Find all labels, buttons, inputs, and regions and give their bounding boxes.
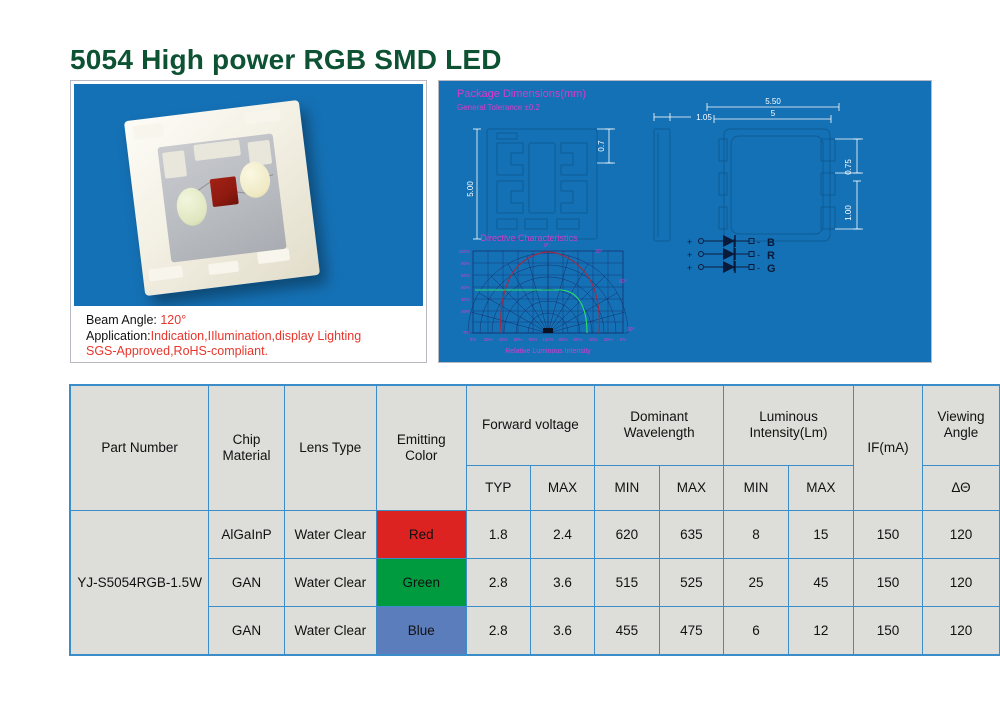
diode-minus-3: - — [757, 263, 760, 273]
chart-ytick-2: 60% — [461, 273, 470, 278]
cell-wavelength-min: 515 — [595, 559, 659, 607]
chart-xtick-6: 80% — [558, 337, 567, 342]
page-title: 5054 High power RGB SMD LED — [70, 44, 502, 76]
dim-width-5: 5 — [771, 109, 776, 118]
chart-angle-1: 30° — [595, 249, 603, 255]
cell-wavelength-min: 620 — [595, 511, 659, 559]
cell-emitting-color: Green — [376, 559, 466, 607]
chart-title: Directive Characteristics — [480, 233, 578, 243]
led-product-photo — [74, 84, 423, 306]
header-viewing-angle-line1: Viewing — [937, 409, 984, 424]
application-value: Indication,IIlumination,display Lighting — [151, 329, 362, 343]
diode-label-r: R — [767, 250, 775, 262]
table-header: Part Number Chip Material Lens Type Emit… — [71, 386, 1000, 511]
cavity-notch — [162, 150, 187, 178]
chart-xtick-0: 0% — [470, 337, 477, 342]
chart-xtick-7: 60% — [573, 337, 582, 342]
package-dimensions-drawing: Package Dimensions(mm) General Tolerance… — [439, 81, 931, 362]
diode-plus-3: + — [687, 263, 692, 273]
cell-vf-max: 2.4 — [530, 511, 594, 559]
chart-ytick-6: 0% — [463, 330, 470, 335]
table-header-row-1: Part Number Chip Material Lens Type Emit… — [71, 386, 1000, 466]
cell-lens-type: Water Clear — [284, 511, 376, 559]
package-notch — [244, 108, 281, 124]
chart-ytick-4: 40% — [461, 297, 470, 302]
application-label: Application: — [86, 329, 151, 343]
cell-if-ma: 150 — [853, 511, 922, 559]
chart-ytick-3: 50% — [461, 285, 470, 290]
photo-caption: Beam Angle: 120° Application:Indication,… — [74, 309, 423, 359]
header-luminous-intensity: Luminous Intensity(Lm) — [724, 386, 854, 466]
diode-plus-2: + — [687, 250, 692, 260]
header-luminous-intensity-line2: Intensity(Lm) — [750, 425, 828, 440]
cell-vf-max: 3.6 — [530, 559, 594, 607]
led-chip-green — [175, 186, 209, 227]
header-emitting-color-line2: Color — [405, 448, 437, 463]
cell-wavelength-min: 455 — [595, 607, 659, 655]
dim-width-5-50: 5.50 — [765, 97, 781, 106]
chart-xtick-2: 40% — [498, 337, 507, 342]
header-emitting-color-line1: Emitting — [397, 432, 446, 447]
cell-vf-max: 3.6 — [530, 607, 594, 655]
drawing-subtitle: General Tolerance ±0.2 — [457, 103, 541, 112]
diode-minus-2: - — [757, 250, 760, 260]
package-notch — [133, 123, 164, 141]
specification-table: Part Number Chip Material Lens Type Emit… — [70, 385, 1000, 655]
cell-wavelength-max: 475 — [659, 607, 724, 655]
diode-label-b: B — [767, 237, 775, 249]
chart-angle-0: 0° — [544, 243, 549, 249]
cell-luminous-min: 25 — [724, 559, 789, 607]
chart-angle-3: 90° — [627, 327, 635, 333]
led-package-body — [124, 100, 320, 296]
cell-emitting-color: Red — [376, 511, 466, 559]
cell-chip-material: GAN — [209, 607, 284, 655]
chart-xtick-9: 20% — [603, 337, 612, 342]
cell-viewing-angle: 120 — [923, 559, 1000, 607]
table-row: GANWater ClearGreen2.83.6515525254515012… — [71, 559, 1000, 607]
header-dominant-wavelength: Dominant Wavelength — [595, 386, 724, 466]
directive-characteristics-chart: Directive Characteristics — [458, 233, 634, 355]
cell-lens-type: Water Clear — [284, 559, 376, 607]
cell-wavelength-max: 635 — [659, 511, 724, 559]
chart-ytick-1: 80% — [461, 261, 470, 266]
header-luminous-intensity-line1: Luminous — [759, 409, 818, 424]
chart-xaxis-label: Relative Luminous Intensity — [505, 348, 591, 355]
chart-ytick-0: 100% — [458, 249, 470, 254]
package-drawing-panel: Package Dimensions(mm) General Tolerance… — [438, 80, 932, 363]
compliance-line: SGS-Approved,RoHS-compliant. — [86, 344, 423, 360]
cell-emitting-color: Blue — [376, 607, 466, 655]
cell-luminous-min: 8 — [724, 511, 789, 559]
chart-angle-2: 60° — [619, 279, 627, 285]
cavity-notch — [193, 139, 241, 160]
led-chip-red — [210, 176, 239, 207]
header-viewing-angle-line2: Angle — [944, 425, 979, 440]
chart-xtick-10: 0% — [620, 337, 627, 342]
header-emitting-color: Emitting Color — [376, 386, 466, 511]
header-part-number: Part Number — [71, 386, 209, 511]
cell-part-number: YJ-S5054RGB-1.5W — [71, 511, 209, 655]
cell-wavelength-max: 525 — [659, 559, 724, 607]
cell-vf-typ: 2.8 — [466, 607, 530, 655]
header-lens-type: Lens Type — [284, 386, 376, 511]
cell-chip-material: GAN — [209, 559, 284, 607]
cell-luminous-min: 6 — [724, 607, 789, 655]
header-if-ma: IF(mA) — [853, 386, 922, 511]
header-chip-material: Chip Material — [209, 386, 284, 511]
chart-xtick-1: 20% — [483, 337, 492, 342]
beam-angle-label: Beam Angle: — [86, 313, 160, 327]
led-chip-blue — [238, 160, 272, 199]
table-row: GANWater ClearBlue2.83.6455475612150120 — [71, 607, 1000, 655]
header-vf-max: MAX — [530, 465, 594, 510]
header-viewing-angle: Viewing Angle — [923, 386, 1000, 466]
header-dominant-wavelength-line1: Dominant — [630, 409, 688, 424]
cell-if-ma: 150 — [853, 607, 922, 655]
cell-vf-typ: 2.8 — [466, 559, 530, 607]
package-notch — [208, 261, 239, 276]
header-wl-max: MAX — [659, 465, 724, 510]
cell-luminous-max: 15 — [788, 511, 853, 559]
table-body: YJ-S5054RGB-1.5WAlGaInPWater ClearRed1.8… — [71, 511, 1000, 655]
header-lm-min: MIN — [724, 465, 789, 510]
cell-viewing-angle: 120 — [923, 607, 1000, 655]
header-chip-material-line2: Material — [223, 448, 271, 463]
led-reflector-cavity — [157, 133, 286, 262]
cell-lens-type: Water Clear — [284, 607, 376, 655]
header-vf-typ: TYP — [466, 465, 530, 510]
cell-luminous-max: 12 — [788, 607, 853, 655]
cell-vf-typ: 1.8 — [466, 511, 530, 559]
drawing-title: Package Dimensions(mm) — [457, 88, 586, 100]
diode-plus-1: + — [687, 237, 692, 247]
beam-angle-value: 120° — [160, 313, 186, 327]
diode-label-g: G — [767, 263, 776, 275]
header-wl-min: MIN — [595, 465, 659, 510]
dim-pad-1-00: 1.00 — [844, 205, 853, 221]
diode-minus-1: - — [757, 237, 760, 247]
header-forward-voltage: Forward voltage — [466, 386, 594, 466]
beam-angle-line: Beam Angle: 120° — [86, 313, 423, 329]
header-theta-symbol: ΔΘ — [923, 465, 1000, 510]
cell-viewing-angle: 120 — [923, 511, 1000, 559]
header-chip-material-line1: Chip — [233, 432, 261, 447]
cell-if-ma: 150 — [853, 559, 922, 607]
chart-xtick-8: 40% — [588, 337, 597, 342]
cell-luminous-max: 45 — [788, 559, 853, 607]
cell-chip-material: AlGaInP — [209, 511, 284, 559]
chart-xtick-5: 100% — [542, 337, 554, 342]
table-row: YJ-S5054RGB-1.5WAlGaInPWater ClearRed1.8… — [71, 511, 1000, 559]
application-line: Application:Indication,IIlumination,disp… — [86, 329, 423, 345]
package-notch — [148, 265, 183, 281]
header-dominant-wavelength-line2: Wavelength — [624, 425, 695, 440]
chart-ytick-5: 20% — [461, 309, 470, 314]
chart-xtick-3: 60% — [513, 337, 522, 342]
dim-thickness-1-05: 1.05 — [696, 113, 712, 122]
header-lm-max: MAX — [788, 465, 853, 510]
product-photo-panel: Beam Angle: 120° Application:Indication,… — [70, 80, 427, 363]
dim-pad-0-75: 0.75 — [844, 159, 853, 175]
chart-xtick-4: 80% — [528, 337, 537, 342]
dim-notch-0-7: 0.7 — [597, 140, 606, 152]
dim-height-5-00: 5.00 — [466, 181, 475, 197]
